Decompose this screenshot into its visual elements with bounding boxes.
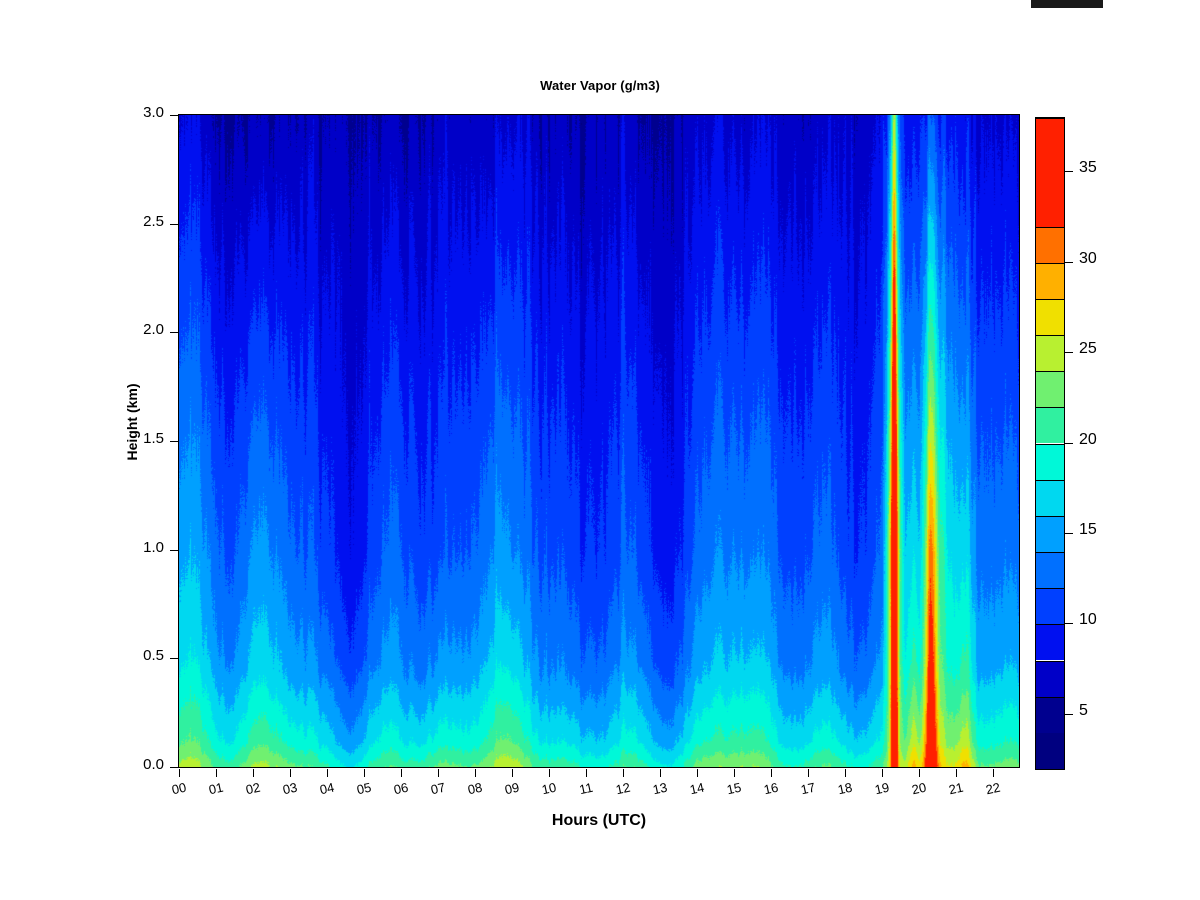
x-axis-tick-mark bbox=[734, 769, 735, 777]
colorbar-band bbox=[1036, 407, 1064, 443]
colorbar bbox=[1035, 117, 1065, 770]
y-axis-tick-label: 0.0 bbox=[143, 756, 164, 773]
x-axis-tick-label: 00 bbox=[165, 778, 194, 798]
x-axis-tick-label: 15 bbox=[720, 778, 749, 798]
x-axis-tick-label: 03 bbox=[276, 778, 305, 798]
x-axis-tick-mark bbox=[475, 769, 476, 777]
y-axis-tick-label: 1.0 bbox=[143, 539, 164, 556]
y-axis-tick-mark bbox=[170, 658, 178, 659]
y-axis-tick-mark bbox=[170, 224, 178, 225]
colorbar-band bbox=[1036, 263, 1064, 299]
x-axis-tick-label: 10 bbox=[535, 778, 564, 798]
x-axis-tick-mark bbox=[179, 769, 180, 777]
page-title: Water Vapor (g/m3) bbox=[180, 78, 1020, 93]
x-axis-tick-label: 18 bbox=[831, 778, 860, 798]
colorbar-band bbox=[1036, 516, 1064, 552]
x-axis-tick-mark bbox=[253, 769, 254, 777]
colorbar-tick-mark bbox=[1064, 533, 1073, 534]
colorbar-tick-label: 30 bbox=[1079, 250, 1097, 268]
y-axis-tick-label: 1.5 bbox=[143, 430, 164, 447]
x-axis-tick-label: 19 bbox=[868, 778, 897, 798]
x-axis-tick-mark bbox=[956, 769, 957, 777]
y-axis-tick-mark bbox=[170, 550, 178, 551]
heatmap-plot-area bbox=[178, 114, 1020, 768]
colorbar-band bbox=[1036, 661, 1064, 697]
colorbar-band bbox=[1036, 624, 1064, 660]
colorbar-tick-mark bbox=[1064, 262, 1073, 263]
x-axis-tick-mark bbox=[993, 769, 994, 777]
x-axis-tick-label: 01 bbox=[202, 778, 231, 798]
colorbar-band bbox=[1036, 227, 1064, 263]
colorbar-band bbox=[1036, 118, 1064, 119]
x-axis-tick-mark bbox=[808, 769, 809, 777]
x-axis-tick-label: 22 bbox=[979, 778, 1008, 798]
x-axis-tick-label: 12 bbox=[609, 778, 638, 798]
heatmap-canvas bbox=[179, 115, 1019, 767]
colorbar-ticks: 5101520253035 bbox=[1064, 114, 1184, 774]
x-axis-tick-mark bbox=[697, 769, 698, 777]
y-axis-tick-mark bbox=[170, 332, 178, 333]
x-axis-title: Hours (UTC) bbox=[178, 812, 1020, 830]
x-axis-tick-label: 02 bbox=[239, 778, 268, 798]
x-axis-tick-mark bbox=[660, 769, 661, 777]
x-axis-tick-mark bbox=[438, 769, 439, 777]
y-axis-tick-label: 2.5 bbox=[143, 213, 164, 230]
colorbar-tick-label: 20 bbox=[1079, 431, 1097, 449]
x-axis-tick-mark bbox=[216, 769, 217, 777]
x-axis-tick-label: 13 bbox=[646, 778, 675, 798]
colorbar-tick-label: 25 bbox=[1079, 340, 1097, 358]
x-axis-tick-label: 08 bbox=[461, 778, 490, 798]
x-axis-tick-mark bbox=[586, 769, 587, 777]
x-axis-tick-label: 07 bbox=[424, 778, 453, 798]
x-axis-tick-mark bbox=[549, 769, 550, 777]
x-axis-tick-mark bbox=[623, 769, 624, 777]
colorbar-tick-mark bbox=[1064, 443, 1073, 444]
colorbar-band bbox=[1036, 371, 1064, 407]
colorbar-tick-label: 15 bbox=[1079, 521, 1097, 539]
x-axis-tick-label: 16 bbox=[757, 778, 786, 798]
colorbar-band bbox=[1036, 335, 1064, 371]
colorbar-band bbox=[1036, 444, 1064, 480]
y-axis: Height (km) 0.00.51.01.52.02.53.0 bbox=[100, 114, 178, 768]
x-axis-tick-label: 09 bbox=[498, 778, 527, 798]
y-axis-tick-label: 2.0 bbox=[143, 321, 164, 338]
colorbar-tick-label: 10 bbox=[1079, 611, 1097, 629]
colorbar-band bbox=[1036, 733, 1064, 769]
x-axis-tick-mark bbox=[327, 769, 328, 777]
colorbar-band bbox=[1036, 299, 1064, 335]
y-axis-tick-mark bbox=[170, 767, 178, 768]
colorbar-band bbox=[1036, 697, 1064, 733]
x-axis-tick-label: 04 bbox=[313, 778, 342, 798]
figure-canvas: Water Vapor (g/m3) Height (km) 0.00.51.0… bbox=[0, 0, 1200, 900]
colorbar-tick-mark bbox=[1064, 171, 1073, 172]
x-axis-tick-label: 06 bbox=[387, 778, 416, 798]
x-axis-tick-label: 17 bbox=[794, 778, 823, 798]
colorbar-tick-label: 5 bbox=[1079, 702, 1088, 720]
x-axis-tick-label: 05 bbox=[350, 778, 379, 798]
y-axis-tick-label: 3.0 bbox=[143, 104, 164, 121]
x-axis-tick-label: 21 bbox=[942, 778, 971, 798]
y-axis-tick-mark bbox=[170, 115, 178, 116]
top-right-artifact bbox=[1031, 0, 1103, 8]
colorbar-band bbox=[1036, 118, 1064, 227]
y-axis-tick-label: 0.5 bbox=[143, 647, 164, 664]
x-axis-tick-mark bbox=[919, 769, 920, 777]
colorbar-tick-label: 35 bbox=[1079, 159, 1097, 177]
x-axis-tick-mark bbox=[512, 769, 513, 777]
colorbar-band bbox=[1036, 552, 1064, 588]
y-axis-tick-mark bbox=[170, 441, 178, 442]
x-axis-tick-mark bbox=[845, 769, 846, 777]
x-axis-tick-mark bbox=[290, 769, 291, 777]
colorbar-band bbox=[1036, 480, 1064, 516]
x-axis-tick-mark bbox=[364, 769, 365, 777]
colorbar-tick-mark bbox=[1064, 623, 1073, 624]
y-axis-title: Height (km) bbox=[124, 342, 140, 502]
x-axis-tick-label: 20 bbox=[905, 778, 934, 798]
x-axis-tick-mark bbox=[401, 769, 402, 777]
colorbar-tick-mark bbox=[1064, 352, 1073, 353]
x-axis-tick-mark bbox=[882, 769, 883, 777]
x-axis-tick-mark bbox=[771, 769, 772, 777]
colorbar-band bbox=[1036, 588, 1064, 624]
x-axis-tick-label: 14 bbox=[683, 778, 712, 798]
colorbar-tick-mark bbox=[1064, 714, 1073, 715]
x-axis-tick-label: 11 bbox=[572, 778, 601, 798]
